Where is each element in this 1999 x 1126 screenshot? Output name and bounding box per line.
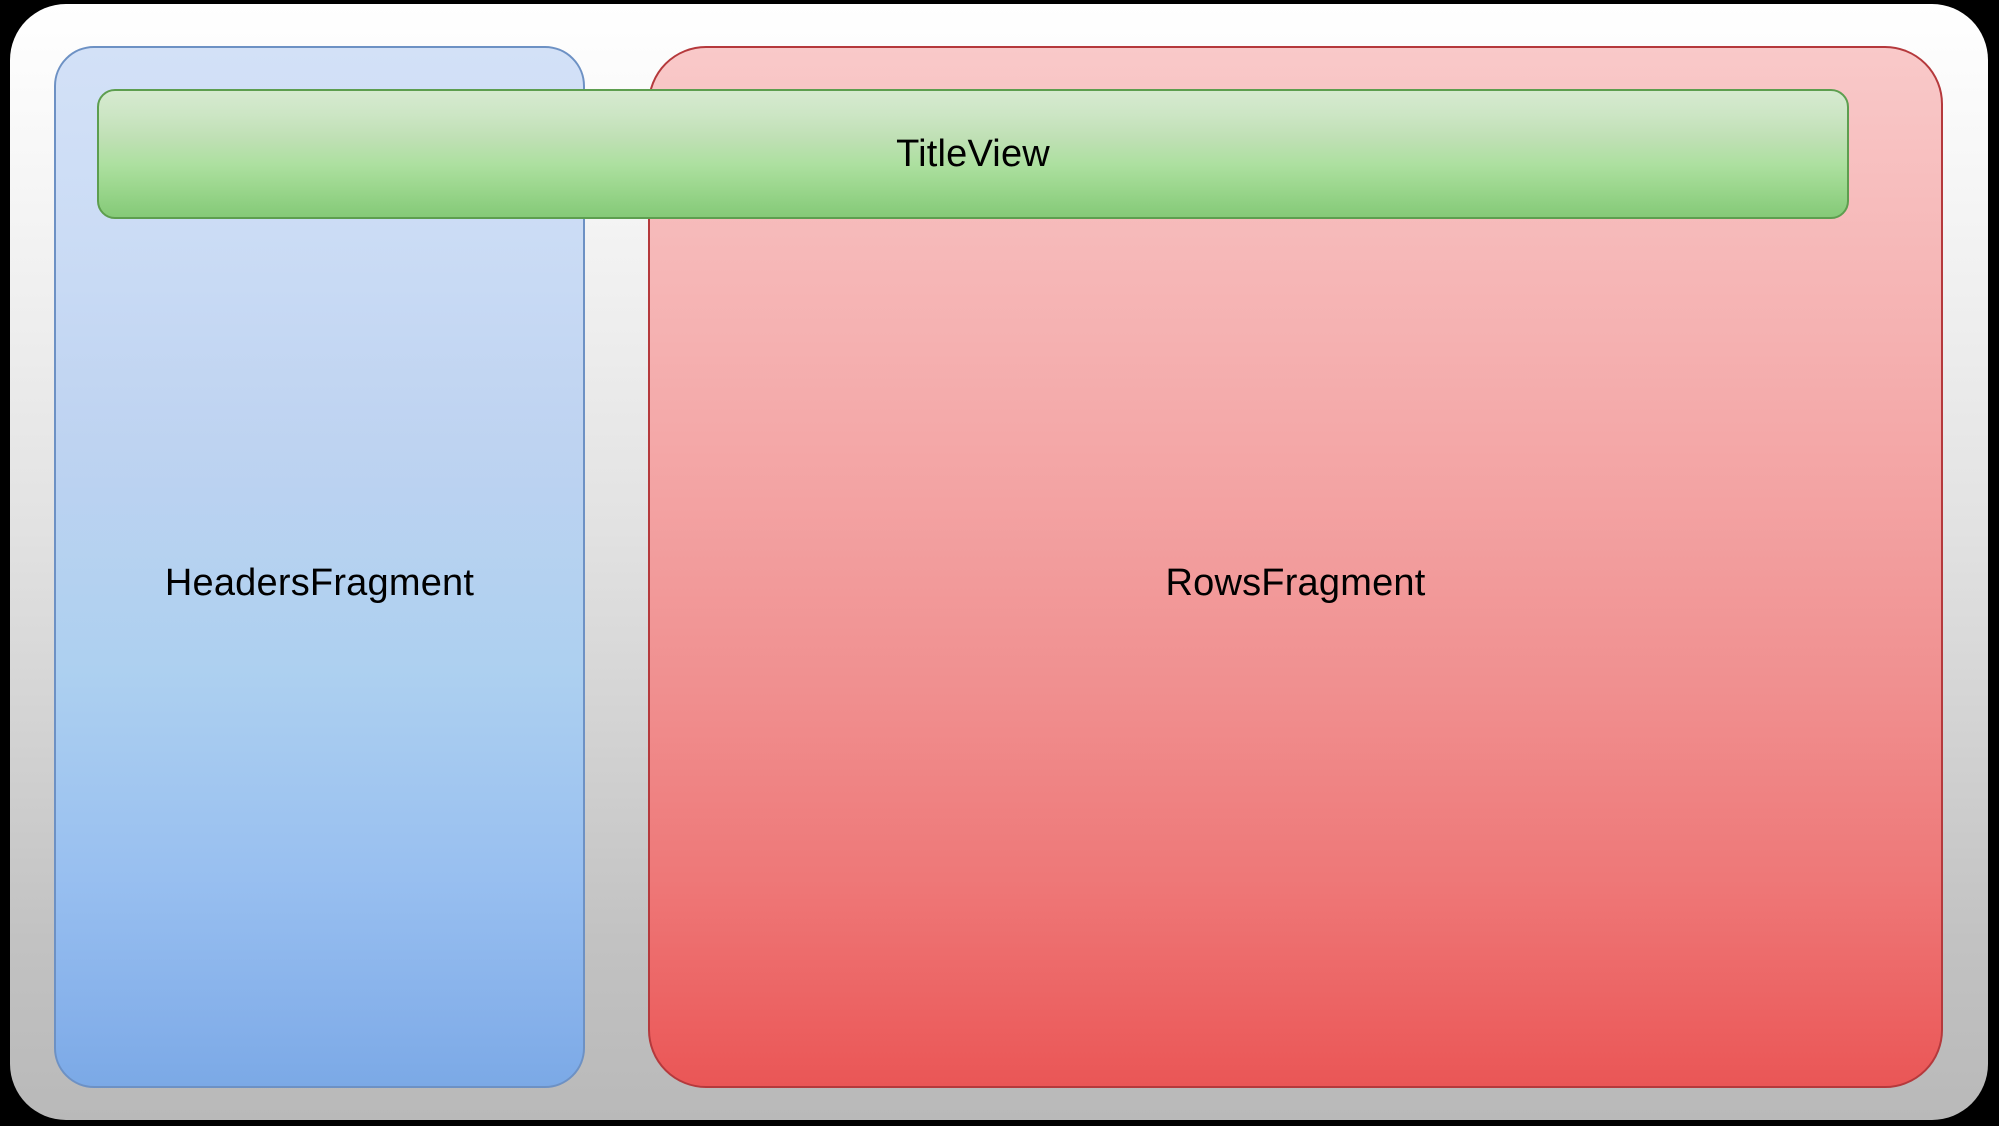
title-view-block[interactable]: TitleView [97, 89, 1849, 219]
outer-container: HeadersFragment RowsFragment TitleView [10, 4, 1988, 1120]
headers-fragment-label: HeadersFragment [56, 564, 583, 602]
rows-fragment-label: RowsFragment [650, 564, 1941, 602]
title-view-label: TitleView [99, 135, 1847, 173]
diagram-canvas: HeadersFragment RowsFragment TitleView [0, 0, 1999, 1126]
